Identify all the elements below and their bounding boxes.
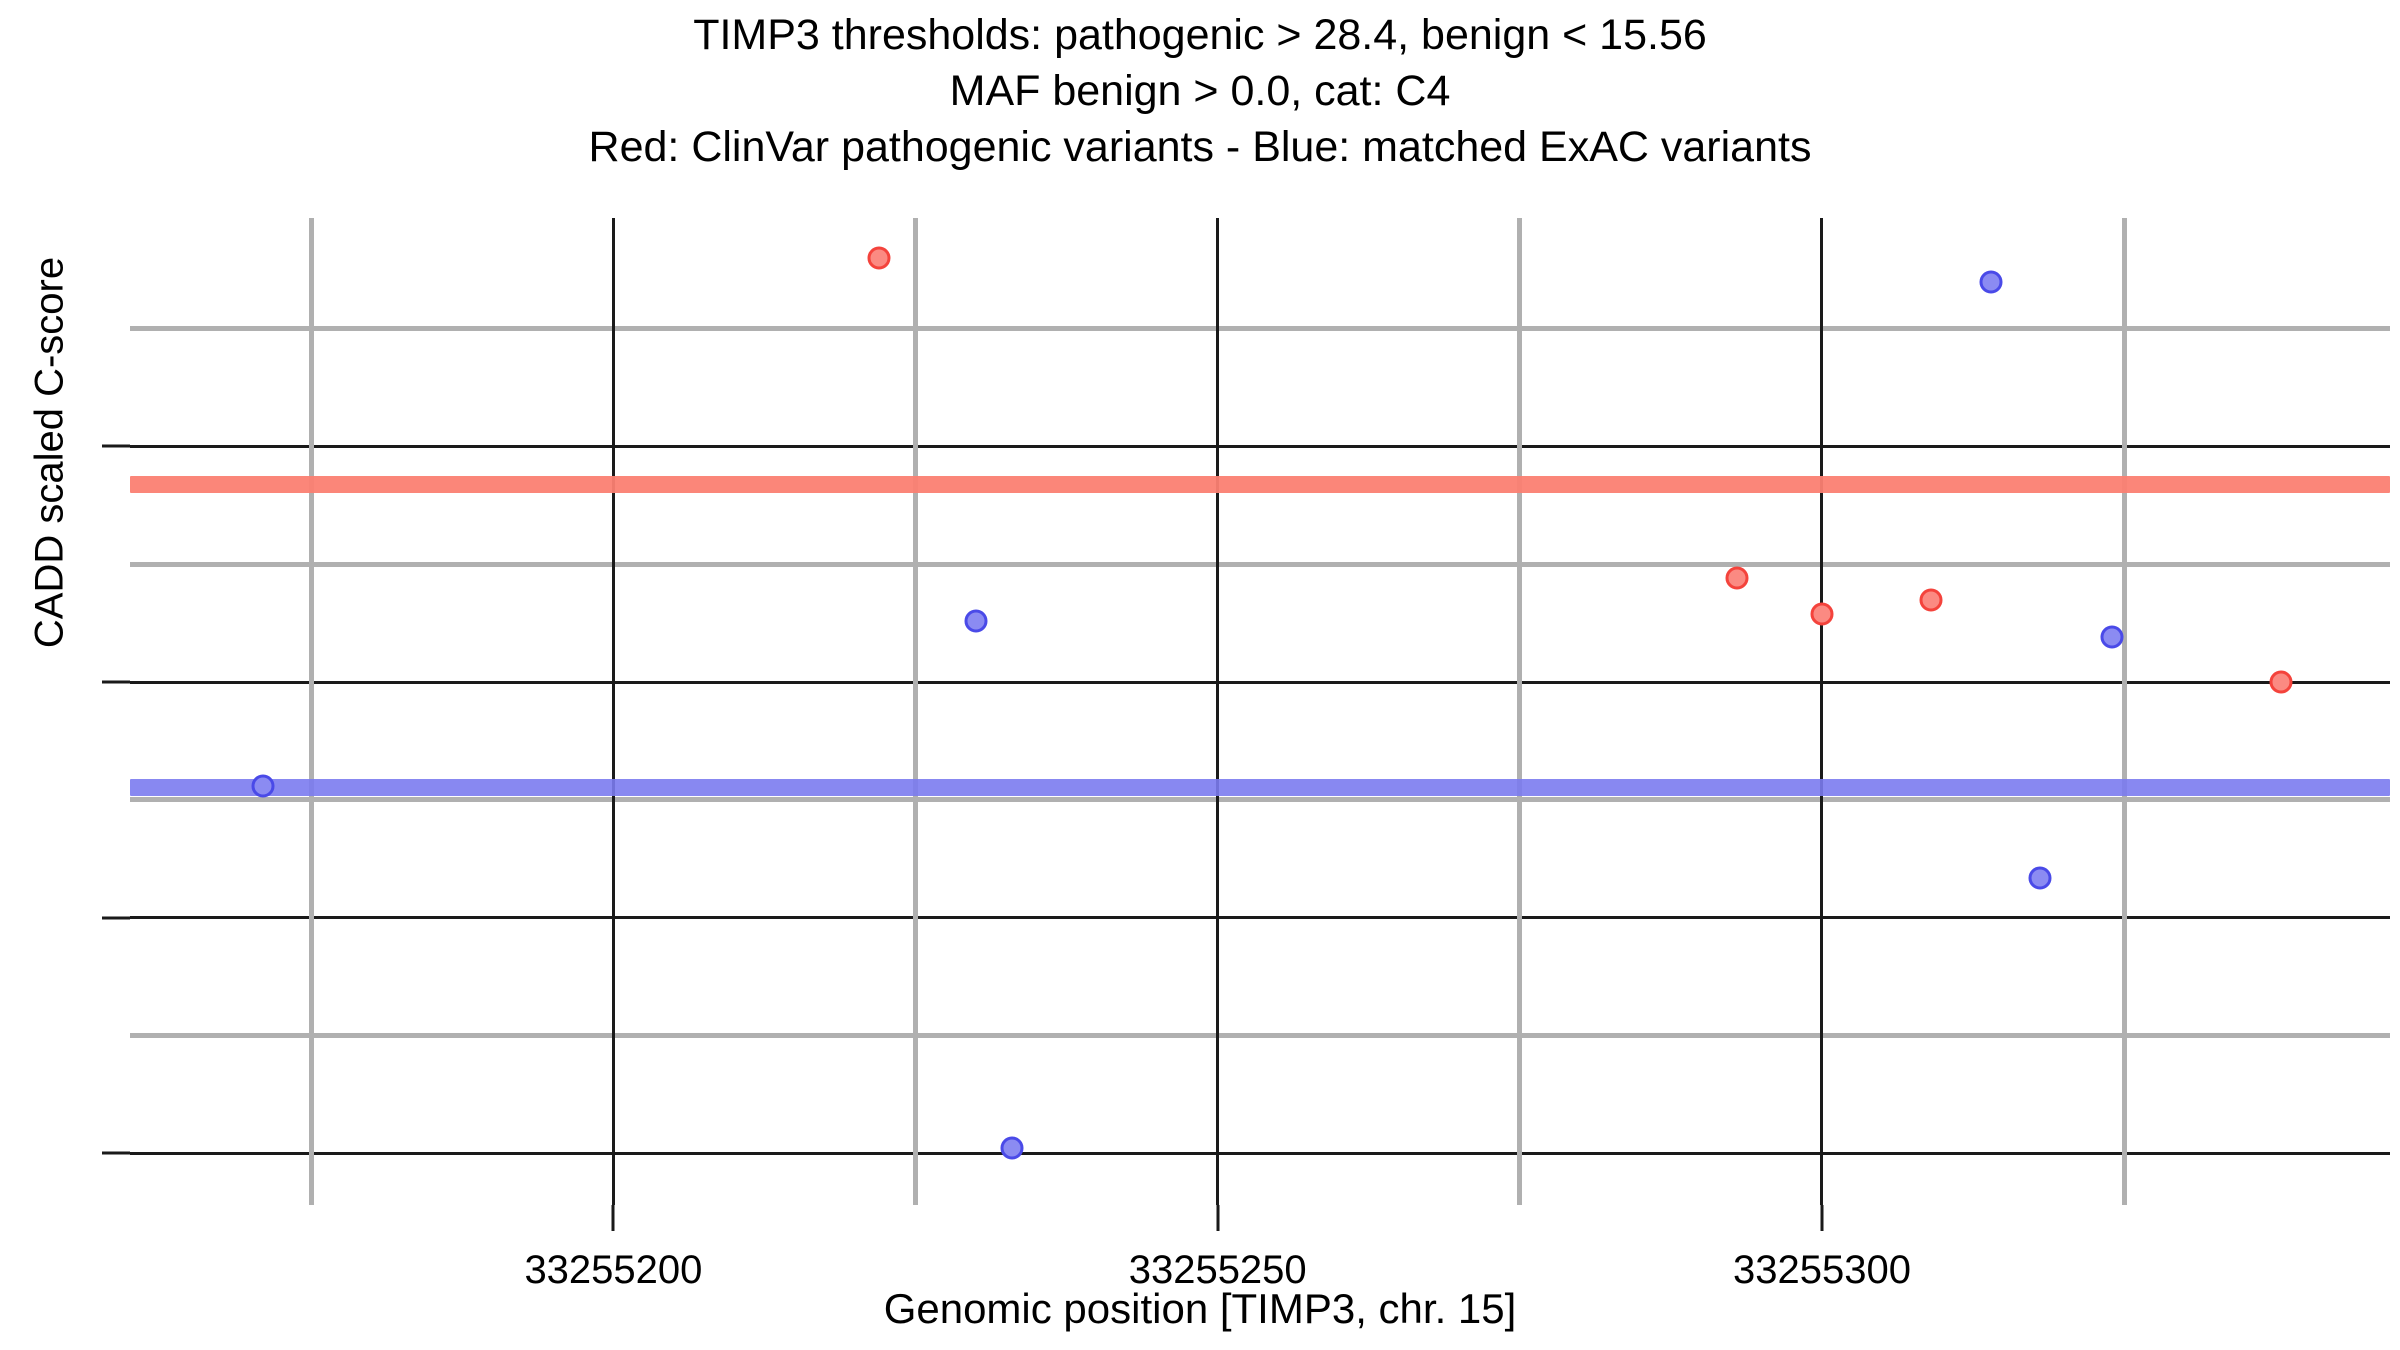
data-point-pathogenic[interactable] [1726,567,1749,590]
figure-canvas: TIMP3 thresholds: pathogenic > 28.4, ben… [0,0,2400,1350]
pathogenic-threshold-line [130,476,2390,493]
gridline-vertical [612,218,615,1205]
data-point-benign[interactable] [1980,270,2003,293]
data-point-pathogenic[interactable] [1919,588,1942,611]
x-axis-label: Genomic position [TIMP3, chr. 15] [0,1285,2400,1333]
gridline-vertical [2122,218,2127,1205]
gridline-horizontal [130,797,2390,802]
gridline-horizontal [130,326,2390,331]
data-point-benign[interactable] [251,774,274,797]
data-point-pathogenic[interactable] [868,247,891,270]
gridline-vertical [1216,218,1219,1205]
gridline-vertical [1820,218,1823,1205]
gridline-horizontal [130,681,2390,684]
gridline-horizontal [130,445,2390,448]
y-tick-mark [102,445,130,448]
gridline-vertical [309,218,314,1205]
chart-title-line-1: TIMP3 thresholds: pathogenic > 28.4, ben… [0,8,2400,64]
data-point-benign[interactable] [1001,1137,1024,1160]
data-point-pathogenic[interactable] [1810,602,1833,625]
data-point-benign[interactable] [964,609,987,632]
gridline-horizontal [130,562,2390,567]
data-point-benign[interactable] [2101,626,2124,649]
y-tick-mark [102,1152,130,1155]
gridline-vertical [913,218,918,1205]
gridline-vertical [1517,218,1522,1205]
chart-title: TIMP3 thresholds: pathogenic > 28.4, ben… [0,8,2400,176]
x-tick-mark [1820,1205,1823,1231]
data-point-pathogenic[interactable] [2270,671,2293,694]
chart-title-line-2: MAF benign > 0.0, cat: C4 [0,64,2400,120]
gridline-horizontal [130,1033,2390,1038]
data-point-benign[interactable] [2028,866,2051,889]
gridline-horizontal [130,916,2390,919]
x-tick-mark [612,1205,615,1231]
y-axis-label: CADD scaled C-score [28,43,73,863]
gridline-horizontal [130,1152,2390,1155]
benign-threshold-line [130,779,2390,796]
plot-area: 0102030 332552003325525033255300 [130,218,2390,1205]
y-tick-mark [102,916,130,919]
chart-title-line-3: Red: ClinVar pathogenic variants - Blue:… [0,120,2400,176]
x-tick-mark [1216,1205,1219,1231]
y-tick-mark [102,681,130,684]
